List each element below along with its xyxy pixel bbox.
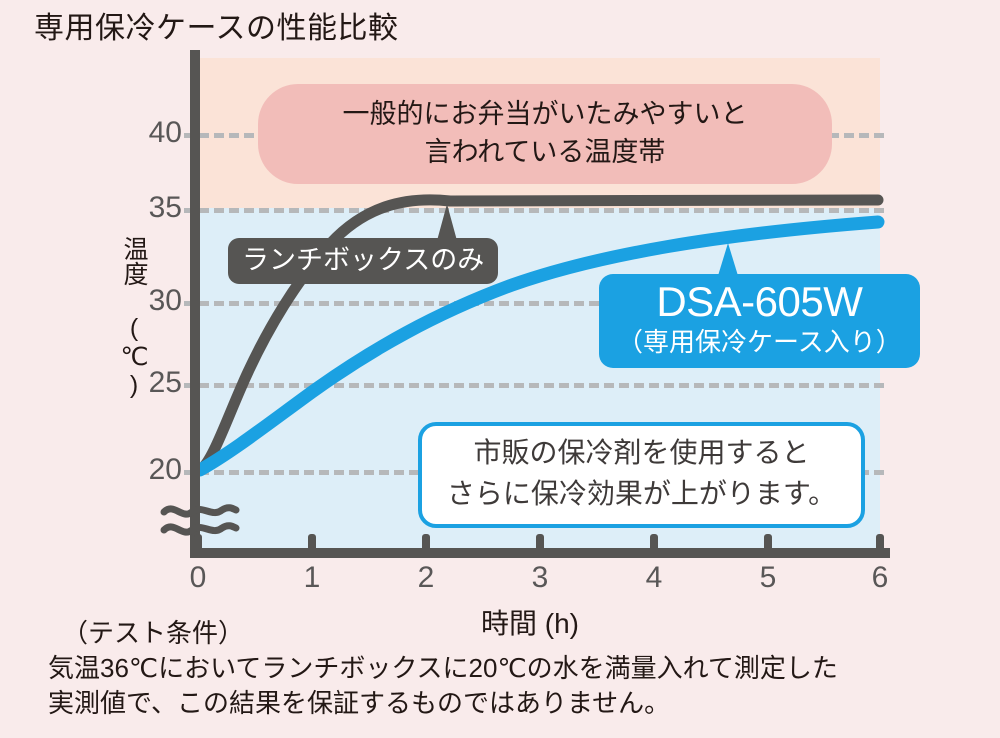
x-tick-label-4: 4 bbox=[634, 562, 674, 594]
danger-band-note-line1: 一般的にお弁当がいたみやすいと bbox=[258, 95, 832, 133]
tip-line2: さらに保冷効果が上がります。 bbox=[422, 473, 861, 514]
product-callout: DSA-605W （専用保冷ケース入り） bbox=[599, 274, 920, 368]
footnote-line-2: 実測値で、この結果を保証するものではありません。 bbox=[48, 686, 988, 721]
x-tick-1 bbox=[308, 534, 316, 548]
x-tick-4 bbox=[650, 534, 658, 548]
y-tick-label-40: 40 bbox=[122, 118, 182, 148]
x-tick-label-0: 0 bbox=[178, 562, 218, 594]
product-name: DSA-605W bbox=[617, 278, 902, 326]
x-tick-5 bbox=[764, 534, 772, 548]
product-subtitle: （専用保冷ケース入り） bbox=[617, 326, 902, 358]
gridline-25 bbox=[184, 383, 884, 388]
page-title: 専用保冷ケースの性能比較 bbox=[34, 10, 399, 48]
y-tick-label-35: 35 bbox=[122, 193, 182, 223]
x-tick-label-6: 6 bbox=[860, 562, 900, 594]
x-tick-3 bbox=[536, 534, 544, 548]
x-tick-label-1: 1 bbox=[292, 562, 332, 594]
footnote-line-1: 気温36℃においてランチボックスに20℃の水を満量入れて測定した bbox=[48, 651, 988, 686]
tip-box: 市販の保冷剤を使用すると さらに保冷効果が上がります。 bbox=[418, 422, 865, 528]
x-tick-6 bbox=[876, 534, 884, 548]
y-axis-title: 温度 (℃) bbox=[104, 236, 148, 399]
danger-band-note-line2: 言われている温度帯 bbox=[258, 133, 832, 171]
footnote-heading: （テスト条件） bbox=[48, 616, 988, 651]
x-tick-label-3: 3 bbox=[520, 562, 560, 594]
x-tick-label-5: 5 bbox=[748, 562, 788, 594]
tip-line1: 市販の保冷剤を使用すると bbox=[422, 432, 861, 473]
lunchbox-callout-label: ランチボックスのみ bbox=[242, 245, 484, 275]
x-tick-2 bbox=[422, 534, 430, 548]
gridline-35 bbox=[184, 208, 884, 213]
y-tick-label-20: 20 bbox=[122, 455, 182, 485]
y-axis-line bbox=[190, 50, 200, 558]
x-tick-0 bbox=[194, 534, 202, 548]
x-axis-line bbox=[190, 548, 890, 558]
x-tick-label-2: 2 bbox=[406, 562, 446, 594]
danger-band-note: 一般的にお弁当がいたみやすいと 言われている温度帯 bbox=[258, 84, 832, 184]
chart-root: 専用保冷ケースの性能比較 40 35 30 25 20 bbox=[0, 0, 1000, 738]
footnote: （テスト条件） 気温36℃においてランチボックスに20℃の水を満量入れて測定した… bbox=[48, 616, 988, 721]
lunchbox-callout: ランチボックスのみ bbox=[228, 238, 498, 284]
